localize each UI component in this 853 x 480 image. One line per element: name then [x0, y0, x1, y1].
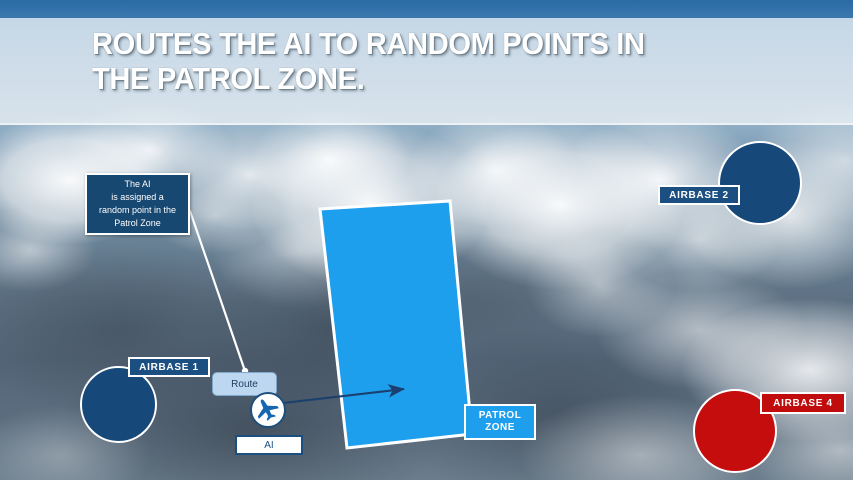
- airbase-1-marker[interactable]: [80, 366, 157, 443]
- airbase-4-label: AIRBASE 4: [760, 392, 846, 414]
- title-band-edge: [0, 123, 853, 125]
- ai-assignment-callout: The AI is assigned a random point in the…: [85, 173, 190, 235]
- ai-label[interactable]: AI: [235, 435, 303, 455]
- airbase-2-label: AIRBASE 2: [658, 185, 740, 205]
- top-sky-strip: [0, 0, 853, 18]
- patrol-zone-shape[interactable]: [310, 192, 485, 457]
- slide-title: ROUTES THE AI TO RANDOM POINTS IN THE PA…: [92, 26, 750, 97]
- fighter-jet-icon[interactable]: [250, 392, 286, 428]
- airbase-1-label: AIRBASE 1: [128, 357, 210, 377]
- airbase-2-marker[interactable]: [718, 141, 802, 225]
- slide-canvas: ROUTES THE AI TO RANDOM POINTS IN THE PA…: [0, 0, 853, 480]
- patrol-zone-label: PATROL ZONE: [464, 404, 536, 440]
